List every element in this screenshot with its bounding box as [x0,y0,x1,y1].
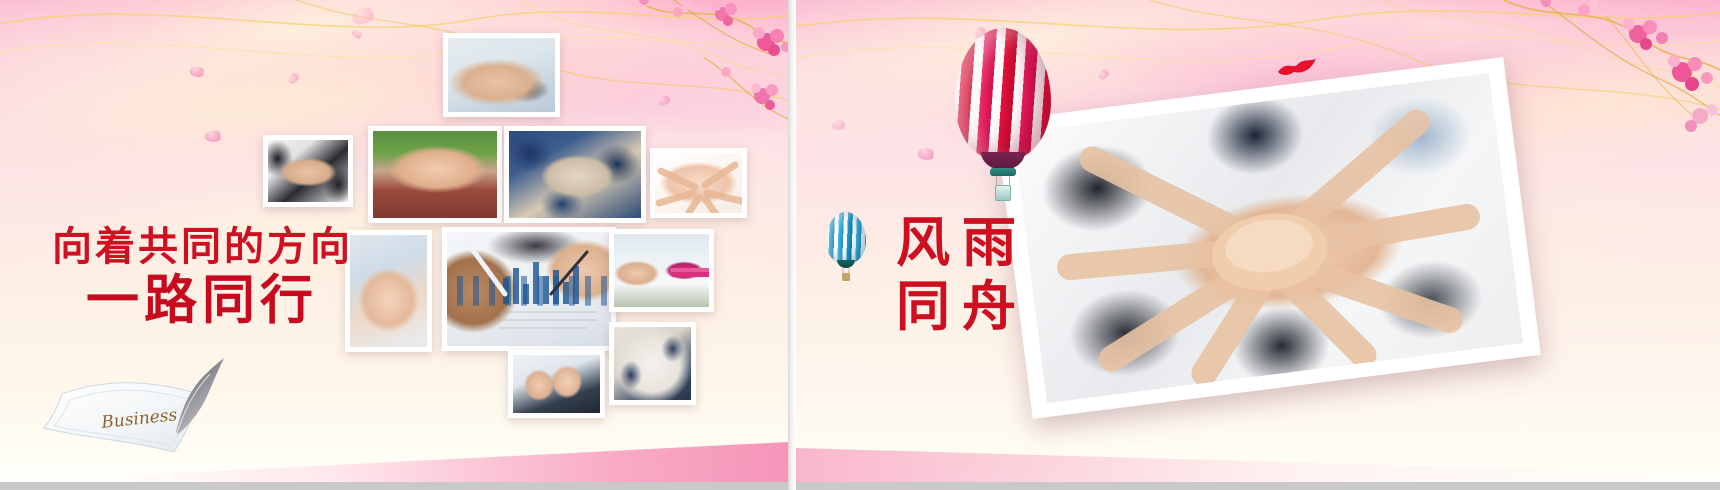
photo-hands-together-circle[interactable] [995,57,1541,419]
bottom-gray-bar [796,482,1720,490]
bottom-gray-bar [0,482,788,490]
presentation-canvas: 向着共同的方向 一路同行 [0,0,1720,490]
slide-left[interactable]: 向着共同的方向 一路同行 [0,0,788,490]
slide-right[interactable]: 风雨 同舟 [796,0,1720,490]
photo-chart-analysis[interactable] [442,227,616,351]
hot-air-balloon-small [826,212,866,264]
photo-desk-overhead[interactable] [609,322,696,405]
slide-left-title: 一路同行 [86,258,318,334]
slide-divider [788,0,796,490]
photo-hands-stack-dark[interactable] [263,135,353,207]
slide-right-title-line2: 同舟 [896,262,1028,341]
photo-meeting-overhead[interactable] [504,126,646,223]
hot-air-balloon-large [955,28,1051,160]
photo-hands-star[interactable] [650,148,747,218]
photo-relay-race[interactable] [368,126,502,223]
quill-and-paper-decor: Business [24,350,244,460]
photo-baton-pass[interactable] [609,229,714,312]
photo-business-cards[interactable] [443,33,560,117]
photo-team-discussion[interactable] [508,350,605,418]
photo-hands-stack-light[interactable] [345,230,432,352]
red-bird-accent [1276,56,1318,82]
